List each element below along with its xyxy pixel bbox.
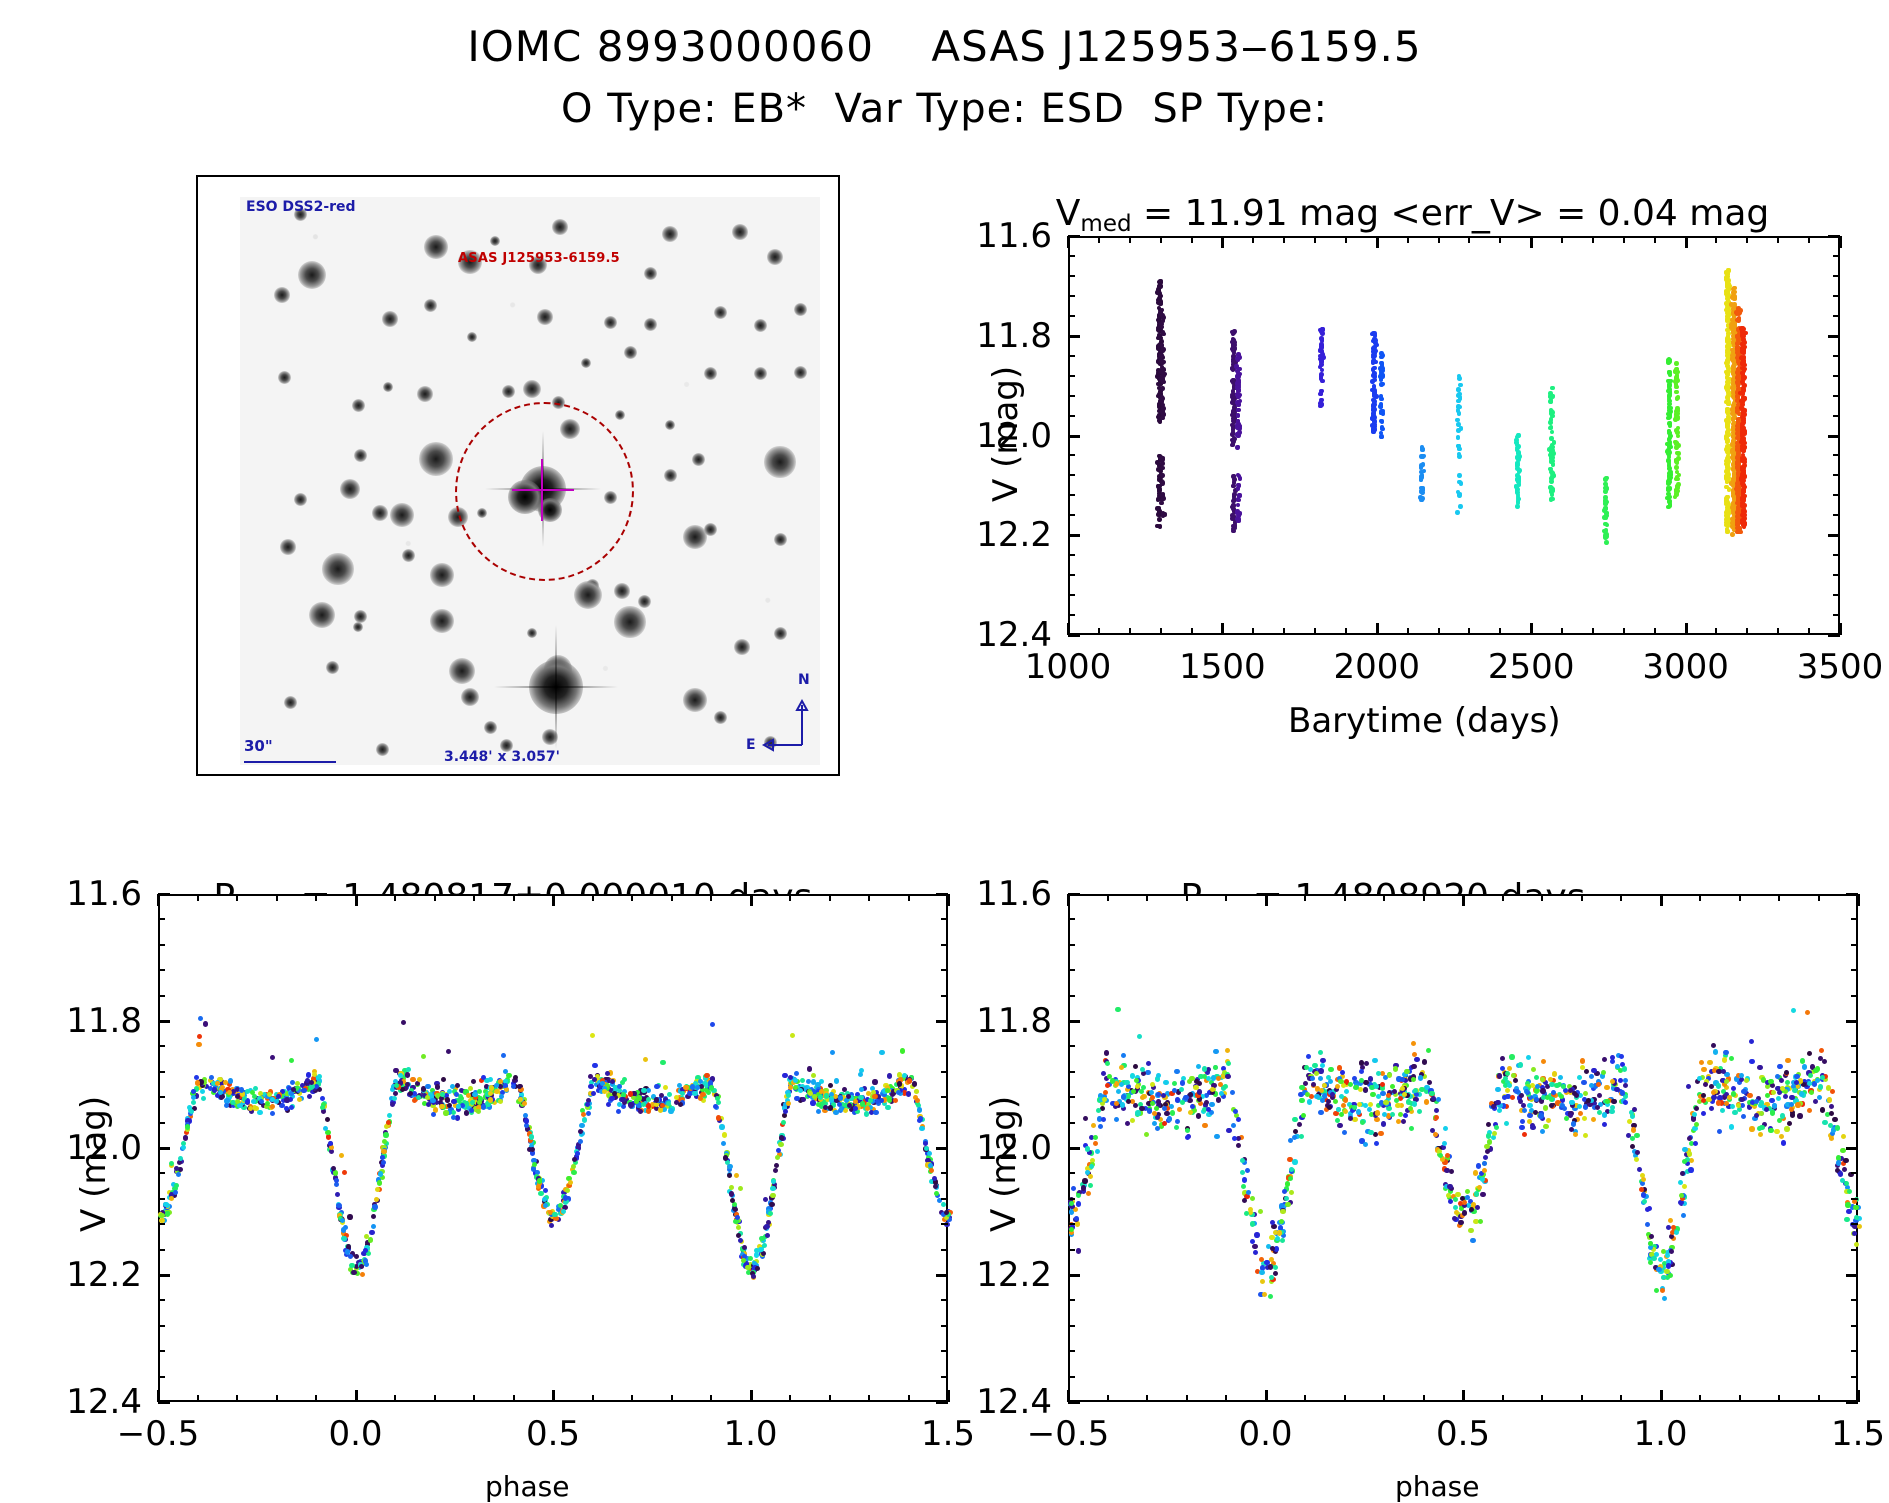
dss-star xyxy=(354,610,367,623)
data-point xyxy=(1172,1081,1177,1086)
data-point xyxy=(1284,1196,1289,1201)
data-point xyxy=(1202,1123,1207,1128)
ytick-minor xyxy=(1068,415,1075,417)
data-point xyxy=(1530,1125,1535,1130)
data-point xyxy=(1550,430,1555,435)
data-point xyxy=(371,1214,376,1219)
data-point xyxy=(1749,1126,1754,1131)
data-point xyxy=(1549,445,1554,450)
data-point xyxy=(1741,1089,1746,1094)
data-point xyxy=(1549,1097,1554,1102)
xtick-minor xyxy=(513,894,515,901)
data-point xyxy=(1802,1064,1807,1069)
data-point xyxy=(1725,470,1730,475)
data-point xyxy=(1371,416,1376,421)
data-point xyxy=(1732,294,1737,299)
phase-vsx-axes xyxy=(1068,894,1858,1402)
data-point xyxy=(723,1155,728,1160)
data-point xyxy=(1548,420,1553,425)
data-point xyxy=(1809,1090,1814,1095)
data-point xyxy=(1319,342,1324,347)
data-point xyxy=(471,1079,476,1084)
xtick-minor xyxy=(1129,236,1131,243)
data-point xyxy=(1757,1065,1762,1070)
data-point xyxy=(1419,478,1424,483)
dss-sky-image: ASAS J125953-6159.5 xyxy=(240,197,820,765)
data-point xyxy=(782,1113,787,1118)
data-point xyxy=(1723,1050,1728,1055)
data-point xyxy=(798,1088,803,1093)
data-point xyxy=(1411,1077,1416,1082)
dss-star xyxy=(604,316,617,329)
data-point xyxy=(1808,1073,1813,1078)
dss-star xyxy=(638,595,651,608)
data-point xyxy=(1319,400,1324,405)
data-point xyxy=(1580,1058,1585,1063)
ytick-major xyxy=(1828,335,1840,338)
data-point xyxy=(1297,1122,1302,1127)
data-point xyxy=(425,1084,430,1089)
data-point xyxy=(1403,1113,1408,1118)
xtick-minor xyxy=(829,894,831,901)
data-point xyxy=(1507,1083,1512,1088)
data-point xyxy=(1725,395,1730,400)
data-point xyxy=(1666,481,1671,486)
data-point xyxy=(1318,1068,1323,1073)
data-point xyxy=(543,1203,548,1208)
xtick-major xyxy=(1685,623,1688,635)
data-point xyxy=(887,1073,892,1078)
data-point xyxy=(1497,1108,1502,1113)
xtick-minor xyxy=(1129,628,1131,635)
xtick-minor xyxy=(513,1395,515,1402)
data-point xyxy=(1799,1091,1804,1096)
data-point xyxy=(1269,1235,1274,1240)
dss-star xyxy=(280,539,296,555)
data-point xyxy=(1163,1080,1168,1085)
ytick-label: 12.0 xyxy=(976,416,1052,456)
xtick-minor xyxy=(1283,236,1285,243)
data-point xyxy=(1320,1058,1325,1063)
data-point xyxy=(1845,1202,1850,1207)
data-point xyxy=(185,1124,190,1129)
data-point xyxy=(1306,1054,1311,1059)
data-point xyxy=(181,1145,186,1150)
data-point xyxy=(736,1233,741,1238)
data-point xyxy=(919,1126,924,1131)
data-point xyxy=(1393,1066,1398,1071)
ytick-major xyxy=(1828,235,1840,238)
data-point xyxy=(616,1109,621,1114)
data-point xyxy=(1214,1134,1219,1139)
xtick-major xyxy=(750,894,753,906)
data-point xyxy=(1725,512,1730,517)
data-point xyxy=(1602,1057,1607,1062)
data-point xyxy=(591,1091,596,1096)
data-point xyxy=(929,1168,934,1173)
xtick-minor xyxy=(868,894,870,901)
data-point xyxy=(524,1118,529,1123)
data-point xyxy=(1637,1167,1642,1172)
data-point xyxy=(1519,1093,1524,1098)
dss-star xyxy=(794,366,807,379)
data-point xyxy=(359,1264,364,1269)
data-point xyxy=(1387,1106,1392,1111)
data-point xyxy=(1141,1071,1146,1076)
dss-star xyxy=(354,449,367,462)
data-point xyxy=(834,1078,839,1083)
data-point xyxy=(1236,374,1241,379)
data-point xyxy=(1337,1123,1342,1128)
data-point xyxy=(663,1085,668,1090)
data-point xyxy=(1739,1097,1744,1102)
xtick-minor xyxy=(1592,628,1594,635)
data-point xyxy=(1662,1296,1667,1301)
data-point xyxy=(481,1104,486,1109)
data-point xyxy=(1124,1080,1129,1085)
data-point xyxy=(917,1107,922,1112)
ytick-major xyxy=(158,893,170,896)
xtick-minor xyxy=(1808,236,1810,243)
data-point xyxy=(1076,1201,1081,1206)
data-point xyxy=(738,1186,743,1191)
lightcurve-time-xlabel: Barytime (days) xyxy=(1288,701,1561,741)
data-point xyxy=(1603,477,1608,482)
data-point xyxy=(1475,1205,1480,1210)
ytick-minor xyxy=(1833,375,1840,377)
data-point xyxy=(1840,1148,1845,1153)
xtick-minor xyxy=(276,894,278,901)
data-point xyxy=(1144,1132,1149,1137)
ytick-major xyxy=(158,1147,170,1150)
ytick-minor xyxy=(1068,275,1075,277)
data-point xyxy=(842,1087,847,1092)
data-point xyxy=(1473,1170,1478,1175)
data-point xyxy=(441,1077,446,1082)
data-point xyxy=(372,1204,377,1209)
data-point xyxy=(1807,1108,1812,1113)
data-point xyxy=(1289,1167,1294,1172)
xtick-minor xyxy=(276,1395,278,1402)
data-point xyxy=(1504,1121,1509,1126)
data-point xyxy=(1725,358,1730,363)
data-point xyxy=(1162,1121,1167,1126)
data-point xyxy=(1694,1106,1699,1111)
data-point xyxy=(1371,404,1376,409)
xtick-minor xyxy=(1715,236,1717,243)
ytick-minor xyxy=(158,1096,165,1098)
data-point xyxy=(1337,1065,1342,1070)
xtick-major xyxy=(1685,236,1688,248)
data-point xyxy=(1668,423,1673,428)
data-point xyxy=(1236,433,1241,438)
data-point xyxy=(1285,1202,1290,1207)
data-point xyxy=(297,1097,302,1102)
dss-star xyxy=(754,319,767,332)
data-point xyxy=(1668,502,1673,507)
data-point xyxy=(552,1212,557,1217)
data-point xyxy=(301,1088,306,1093)
data-point xyxy=(590,1033,595,1038)
data-point xyxy=(183,1135,188,1140)
data-point xyxy=(790,1033,795,1038)
data-point xyxy=(1154,1106,1159,1111)
data-point xyxy=(1318,1076,1323,1081)
data-point xyxy=(1631,1127,1636,1132)
dss-star xyxy=(754,367,767,380)
xtick-major xyxy=(1376,236,1379,248)
data-point xyxy=(1381,1121,1386,1126)
ytick-minor xyxy=(1833,355,1840,357)
xtick-label: 2000 xyxy=(1334,647,1421,687)
data-point xyxy=(1382,1112,1387,1117)
data-point xyxy=(1711,1090,1716,1095)
data-point xyxy=(1353,1085,1358,1090)
data-point xyxy=(1725,281,1730,286)
target-crosshair-horizontal xyxy=(512,489,574,491)
data-point xyxy=(289,1058,294,1063)
data-point xyxy=(430,1098,435,1103)
data-point xyxy=(1552,1071,1557,1076)
data-point xyxy=(1736,317,1741,322)
data-point xyxy=(1180,1080,1185,1085)
data-point xyxy=(1674,465,1679,470)
data-point xyxy=(1183,1095,1188,1100)
dss-survey-label: ESO DSS2-red xyxy=(246,199,356,215)
ytick-major xyxy=(1068,435,1080,438)
data-point xyxy=(1776,1096,1781,1101)
data-point xyxy=(1459,426,1464,431)
data-point xyxy=(393,1091,398,1096)
dss-star xyxy=(523,380,541,398)
data-point xyxy=(1603,533,1608,538)
ytick-label: 11.6 xyxy=(976,216,1052,256)
data-point xyxy=(1597,1093,1602,1098)
xtick-minor xyxy=(631,894,633,901)
data-point xyxy=(815,1082,820,1087)
data-point xyxy=(1158,311,1163,316)
data-point xyxy=(1250,1221,1255,1226)
data-point xyxy=(765,1233,770,1238)
data-point xyxy=(531,1166,536,1171)
data-point xyxy=(571,1164,576,1169)
chart-phase-omc: V (mag) phase −0.50.00.51.01.511.611.812… xyxy=(30,880,950,1490)
data-point xyxy=(778,1142,783,1147)
phase-omc-xlabel: phase xyxy=(485,1470,570,1503)
data-point xyxy=(1741,438,1746,443)
page-subtitle: O Type: EB* Var Type: ESD SP Type: xyxy=(0,86,1889,132)
data-point xyxy=(830,1050,835,1055)
data-point xyxy=(1145,1070,1150,1075)
data-point xyxy=(1478,1219,1483,1224)
data-point xyxy=(1098,1124,1103,1129)
data-point xyxy=(1236,519,1241,524)
data-point xyxy=(1759,1125,1764,1130)
xtick-minor xyxy=(671,894,673,901)
data-point xyxy=(800,1078,805,1083)
data-point xyxy=(1268,1294,1273,1299)
data-point xyxy=(488,1091,493,1096)
dss-target-label: ASAS J125953-6159.5 xyxy=(458,251,620,266)
data-point xyxy=(1236,1143,1241,1148)
data-point xyxy=(1797,1113,1802,1118)
data-point xyxy=(1133,1064,1138,1069)
data-point xyxy=(1740,326,1745,331)
data-point xyxy=(1140,1067,1145,1072)
data-point xyxy=(1725,314,1730,319)
data-point xyxy=(1548,391,1553,396)
data-point xyxy=(680,1091,685,1096)
xtick-minor xyxy=(789,894,791,901)
data-point xyxy=(1318,1050,1323,1055)
data-point xyxy=(1759,1100,1764,1105)
data-point xyxy=(1781,1140,1786,1145)
data-point xyxy=(1312,1063,1317,1068)
data-point xyxy=(1534,1097,1539,1102)
data-point xyxy=(443,1110,448,1115)
dss-star xyxy=(537,309,553,325)
data-point xyxy=(588,1084,593,1089)
data-point xyxy=(1218,1082,1223,1087)
data-point xyxy=(174,1183,179,1188)
data-point xyxy=(1619,1054,1624,1059)
data-point xyxy=(1548,1077,1553,1082)
data-point xyxy=(1372,345,1377,350)
xtick-minor xyxy=(1654,236,1656,243)
data-point xyxy=(165,1211,170,1216)
data-point xyxy=(783,1109,788,1114)
data-point xyxy=(1674,489,1679,494)
data-point xyxy=(1236,1117,1241,1122)
data-point xyxy=(1150,1101,1155,1106)
data-point xyxy=(1589,1074,1594,1079)
ytick-minor xyxy=(158,944,165,946)
data-point xyxy=(239,1087,244,1092)
dss-star xyxy=(382,311,398,327)
ytick-minor xyxy=(158,1376,165,1378)
data-point xyxy=(736,1225,741,1230)
data-point xyxy=(364,1262,369,1267)
xtick-minor xyxy=(1438,628,1440,635)
xtick-minor xyxy=(1777,628,1779,635)
data-point xyxy=(1319,362,1324,367)
data-point xyxy=(1730,532,1735,537)
dss-star xyxy=(714,306,727,319)
data-point xyxy=(1790,1112,1795,1117)
data-point xyxy=(1614,1087,1619,1092)
data-point xyxy=(1667,382,1672,387)
data-point xyxy=(1252,1244,1257,1249)
data-point xyxy=(1601,1070,1606,1075)
data-point xyxy=(1457,454,1462,459)
data-point xyxy=(1674,385,1679,390)
ytick-label: 11.8 xyxy=(66,1001,142,1041)
ytick-minor xyxy=(1833,315,1840,317)
data-point xyxy=(1418,1075,1423,1080)
data-point xyxy=(1618,1078,1623,1083)
data-point xyxy=(309,1080,314,1085)
data-point xyxy=(1238,424,1243,429)
xtick-major xyxy=(1221,236,1224,248)
xtick-label: 0.0 xyxy=(328,1414,382,1454)
data-point xyxy=(1328,1067,1333,1072)
data-point xyxy=(769,1202,774,1207)
data-point xyxy=(406,1067,411,1072)
data-point xyxy=(1213,1049,1218,1054)
data-point xyxy=(1242,1177,1247,1182)
ytick-minor xyxy=(1833,474,1840,476)
data-point xyxy=(1160,416,1165,421)
data-point xyxy=(1456,435,1461,440)
data-point xyxy=(1273,1265,1278,1270)
data-point xyxy=(1742,513,1747,518)
data-point xyxy=(1682,1184,1687,1189)
xtick-minor xyxy=(1098,236,1100,243)
data-point xyxy=(1541,1059,1546,1064)
data-point xyxy=(1319,354,1324,359)
data-point xyxy=(1196,1064,1201,1069)
data-point xyxy=(1724,474,1729,479)
data-point xyxy=(1379,372,1384,377)
dss-star xyxy=(692,453,705,466)
dss-star xyxy=(662,226,678,242)
data-point xyxy=(1422,1059,1427,1064)
data-point xyxy=(381,1160,386,1165)
data-point xyxy=(476,1109,481,1114)
dss-star xyxy=(664,469,677,482)
data-point xyxy=(1645,1222,1650,1227)
data-point xyxy=(1674,445,1679,450)
data-point xyxy=(1819,1048,1824,1053)
xtick-major xyxy=(750,1390,753,1402)
data-point xyxy=(1729,1056,1734,1061)
ytick-minor xyxy=(1833,295,1840,297)
data-point xyxy=(1379,351,1384,356)
dss-star xyxy=(424,299,437,312)
data-point xyxy=(1502,1095,1507,1100)
data-point xyxy=(755,1266,760,1271)
xtick-minor xyxy=(1499,236,1501,243)
data-point xyxy=(585,1102,590,1107)
compass-rose xyxy=(756,685,826,765)
data-point xyxy=(1483,1155,1488,1160)
xtick-minor xyxy=(1438,236,1440,243)
xtick-minor xyxy=(1160,236,1162,243)
data-point xyxy=(1372,393,1377,398)
xtick-minor xyxy=(1098,628,1100,635)
data-point xyxy=(1634,1133,1639,1138)
data-point xyxy=(654,1097,659,1102)
ytick-minor xyxy=(158,1071,165,1073)
data-point xyxy=(1236,408,1241,413)
data-point xyxy=(390,1102,395,1107)
data-point xyxy=(565,1188,570,1193)
data-point xyxy=(1426,1048,1431,1053)
data-point xyxy=(1832,1117,1837,1122)
data-point xyxy=(1348,1082,1353,1087)
data-point xyxy=(1457,376,1462,381)
data-point xyxy=(1088,1183,1093,1188)
data-point xyxy=(646,1088,651,1093)
data-point xyxy=(906,1091,911,1096)
dss-star xyxy=(764,446,795,477)
data-point xyxy=(770,1186,775,1191)
xtick-minor xyxy=(1746,236,1748,243)
data-point xyxy=(289,1105,294,1110)
data-point xyxy=(1476,1163,1481,1168)
data-point xyxy=(1190,1104,1195,1109)
data-point xyxy=(1515,485,1520,490)
